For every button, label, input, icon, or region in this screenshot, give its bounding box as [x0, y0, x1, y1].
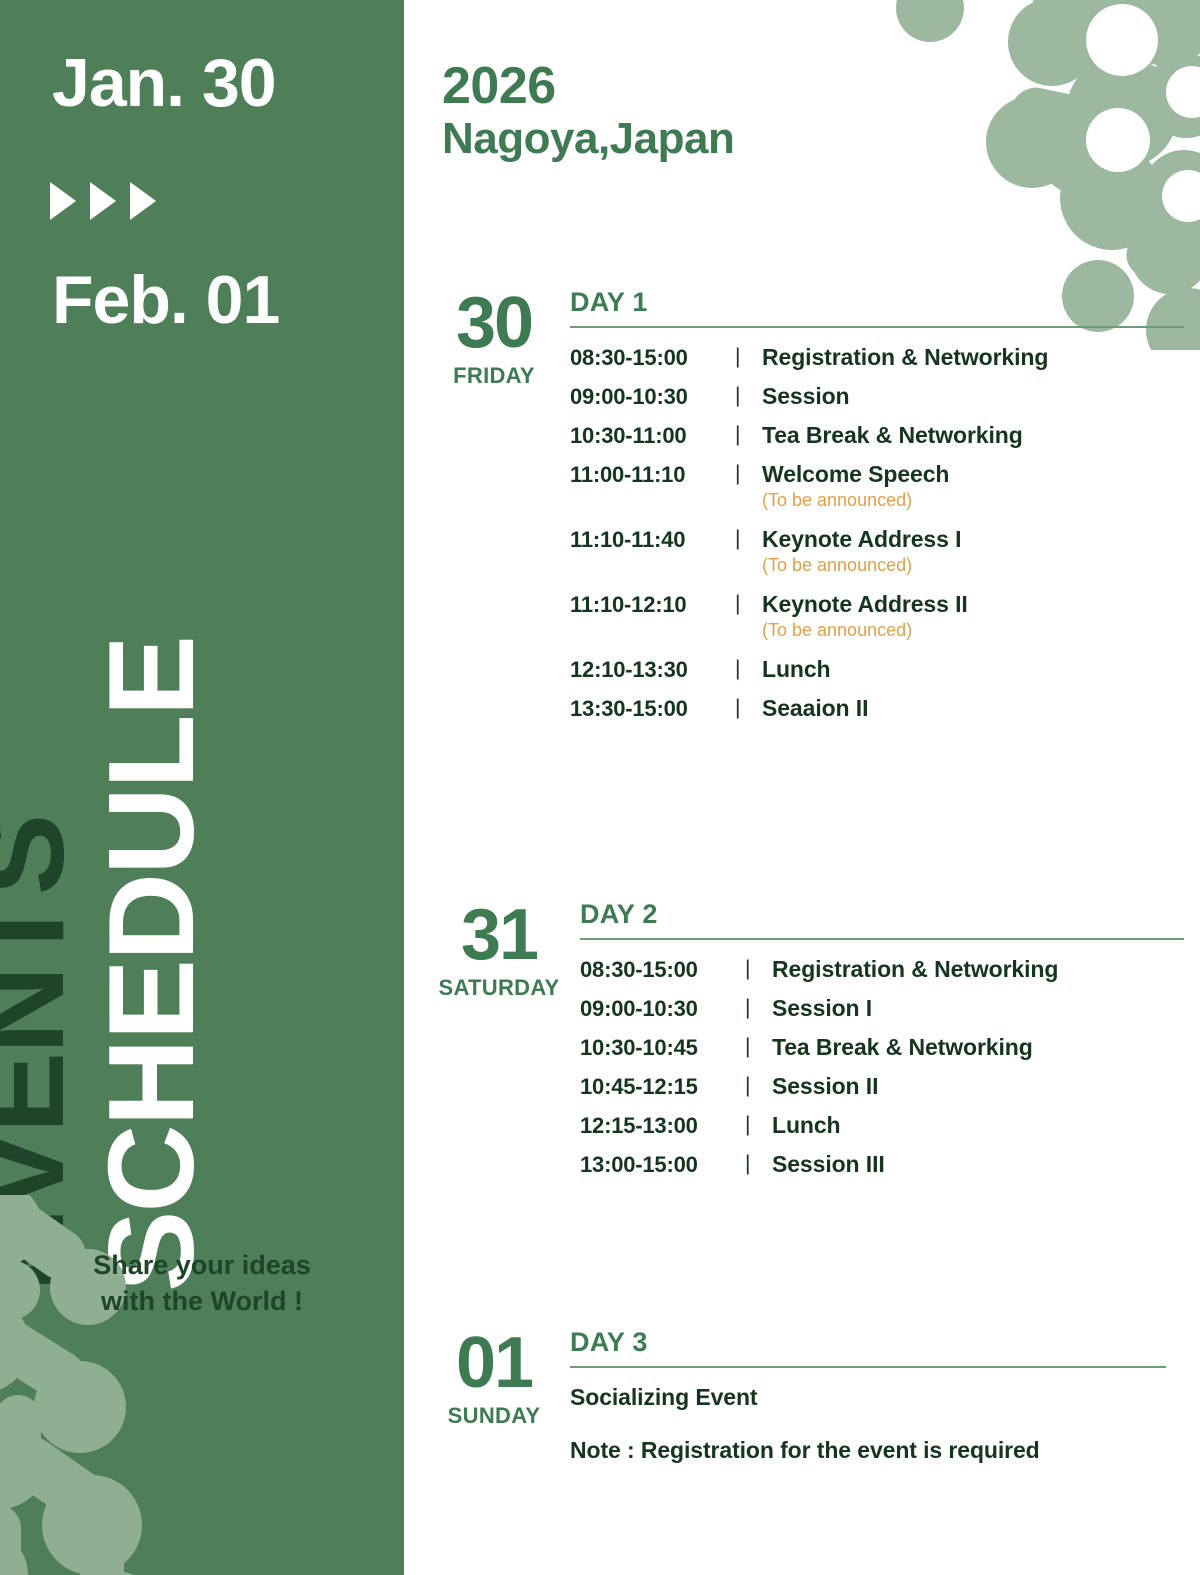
schedule-row: 10:45-12:15 | Session II: [580, 1073, 1184, 1100]
slot-separator: |: [740, 1073, 772, 1098]
slot-time: 09:00-10:30: [580, 995, 740, 1022]
schedule-row: 09:00-10:30 | Session I: [580, 995, 1184, 1022]
day-number: 30: [424, 290, 564, 356]
slot-separator: |: [730, 344, 762, 369]
slot-separator: |: [740, 956, 772, 981]
schedule-row: 13:00-15:00 | Session III: [580, 1151, 1184, 1178]
day-number: 01: [424, 1330, 564, 1396]
schedule-poster: Jan. 30 Feb. 01 EVENTS SCHEDULE Share yo…: [0, 0, 1200, 1575]
slot-time: 10:30-10:45: [580, 1034, 740, 1061]
slot-main: Keynote Address II (To be announced): [762, 591, 1184, 642]
tagline: Share your ideas with the World !: [0, 1248, 404, 1319]
schedule-row: 08:30-15:00 | Registration & Networking: [570, 344, 1184, 371]
day-divider: [580, 938, 1184, 940]
event-end-date: Feb. 01: [52, 265, 279, 336]
slot-title: Lunch: [772, 1112, 1184, 1138]
slot-title: Welcome Speech: [762, 461, 1184, 487]
slot-main: Session III: [772, 1151, 1184, 1177]
slot-time: 08:30-15:00: [570, 344, 730, 371]
slot-main: Session II: [772, 1073, 1184, 1099]
slot-main: Tea Break & Networking: [772, 1034, 1184, 1060]
slot-title: Seaaion II: [762, 695, 1184, 721]
vertical-title-schedule: SCHEDULE: [90, 637, 212, 1292]
slot-time: 12:10-13:30: [570, 656, 730, 683]
slot-separator: |: [730, 461, 762, 486]
day-body-1: DAY 1 08:30-15:00 | Registration & Netwo…: [564, 288, 1184, 734]
day-divider: [570, 1366, 1166, 1368]
slot-title: Session I: [772, 995, 1184, 1021]
slot-title: Tea Break & Networking: [762, 422, 1184, 448]
event-location: Nagoya,Japan: [442, 114, 734, 163]
slot-separator: |: [730, 422, 762, 447]
slot-title: Session: [762, 383, 1184, 409]
day-weekday: SATURDAY: [424, 975, 574, 1001]
day-date-3: 01 SUNDAY: [424, 1328, 564, 1464]
schedule-row: 13:30-15:00 | Seaaion II: [570, 695, 1184, 722]
slot-separator: |: [730, 695, 762, 720]
slot-time: 13:00-15:00: [580, 1151, 740, 1178]
slot-time: 08:30-15:00: [580, 956, 740, 983]
slot-separator: |: [740, 995, 772, 1020]
event-start-date: Jan. 30: [52, 48, 276, 119]
slot-separator: |: [740, 1151, 772, 1176]
day-title: DAY 2: [580, 900, 1184, 930]
slot-separator: |: [730, 591, 762, 616]
day-body-3: DAY 3 Socializing Event Note : Registrat…: [564, 1328, 1184, 1464]
slot-time: 11:10-11:40: [570, 526, 730, 553]
tagline-line-1: Share your ideas: [0, 1248, 404, 1284]
slot-main: Registration & Networking: [772, 956, 1184, 982]
schedule-row: 12:10-13:30 | Lunch: [570, 656, 1184, 683]
slot-main: Registration & Networking: [762, 344, 1184, 370]
event-year: 2026: [442, 58, 734, 114]
slot-separator: |: [730, 656, 762, 681]
day-block-3: 01 SUNDAY DAY 3 Socializing Event Note :…: [424, 1328, 1184, 1464]
slot-main: Lunch: [762, 656, 1184, 682]
slot-title: Keynote Address II: [762, 591, 1184, 617]
schedule-row: 12:15-13:00 | Lunch: [580, 1112, 1184, 1139]
slot-main: Tea Break & Networking: [762, 422, 1184, 448]
slot-separator: |: [730, 383, 762, 408]
day3-event-name: Socializing Event: [570, 1384, 1184, 1411]
play-triangle-icon: [130, 182, 156, 220]
play-triangle-icon: [50, 182, 76, 220]
play-triangle-icon: [90, 182, 116, 220]
slot-title: Session II: [772, 1073, 1184, 1099]
slot-main: Keynote Address I (To be announced): [762, 526, 1184, 577]
schedule-row: 10:30-10:45 | Tea Break & Networking: [580, 1034, 1184, 1061]
vertical-title-events: EVENTS: [0, 816, 82, 1292]
day-title: DAY 1: [570, 288, 1184, 318]
slot-separator: |: [730, 526, 762, 551]
schedule-row: 11:10-11:40 | Keynote Address I (To be a…: [570, 526, 1184, 577]
slot-time: 09:00-10:30: [570, 383, 730, 410]
day-date-2: 31 SATURDAY: [424, 900, 574, 1190]
slot-title: Lunch: [762, 656, 1184, 682]
vertical-title-group: EVENTS SCHEDULE: [0, 470, 404, 1210]
slot-time: 10:45-12:15: [580, 1073, 740, 1100]
slot-separator: |: [740, 1034, 772, 1059]
slot-note: (To be announced): [762, 489, 1184, 512]
slot-main: Lunch: [772, 1112, 1184, 1138]
day-body-2: DAY 2 08:30-15:00 | Registration & Netwo…: [574, 900, 1184, 1190]
day-title: DAY 3: [570, 1328, 1184, 1358]
slot-title: Keynote Address I: [762, 526, 1184, 552]
slot-note: (To be announced): [762, 554, 1184, 577]
slot-main: Seaaion II: [762, 695, 1184, 721]
slot-main: Session I: [772, 995, 1184, 1021]
day-number: 31: [424, 902, 574, 968]
day-block-2: 31 SATURDAY DAY 2 08:30-15:00 | Registra…: [424, 900, 1184, 1190]
slot-main: Session: [762, 383, 1184, 409]
schedule-row: 10:30-11:00 | Tea Break & Networking: [570, 422, 1184, 449]
slot-main: Welcome Speech (To be announced): [762, 461, 1184, 512]
tagline-line-2: with the World !: [0, 1284, 404, 1320]
slot-time: 13:30-15:00: [570, 695, 730, 722]
day-weekday: SUNDAY: [424, 1403, 564, 1429]
sidebar-panel: Jan. 30 Feb. 01 EVENTS SCHEDULE Share yo…: [0, 0, 404, 1575]
slot-title: Tea Break & Networking: [772, 1034, 1184, 1060]
arrow-separator-group: [50, 182, 156, 220]
slot-title: Registration & Networking: [772, 956, 1184, 982]
slot-time: 11:10-12:10: [570, 591, 730, 618]
slot-separator: |: [740, 1112, 772, 1137]
schedule-row: 08:30-15:00 | Registration & Networking: [580, 956, 1184, 983]
slot-time: 10:30-11:00: [570, 422, 730, 449]
day-block-1: 30 FRIDAY DAY 1 08:30-15:00 | Registrati…: [424, 288, 1184, 734]
schedule-row: 09:00-10:30 | Session: [570, 383, 1184, 410]
slot-time: 11:00-11:10: [570, 461, 730, 488]
schedule-row: 11:10-12:10 | Keynote Address II (To be …: [570, 591, 1184, 642]
day-weekday: FRIDAY: [424, 363, 564, 389]
slot-note: (To be announced): [762, 619, 1184, 642]
day3-note: Note : Registration for the event is req…: [570, 1437, 1184, 1464]
slot-title: Registration & Networking: [762, 344, 1184, 370]
header-block: 2026 Nagoya,Japan: [442, 58, 734, 163]
slot-time: 12:15-13:00: [580, 1112, 740, 1139]
content-panel: 2026 Nagoya,Japan 30 FRIDAY DAY 1 08:30-…: [404, 0, 1200, 1575]
day-date-1: 30 FRIDAY: [424, 288, 564, 734]
slot-title: Session III: [772, 1151, 1184, 1177]
schedule-row: 11:00-11:10 | Welcome Speech (To be anno…: [570, 461, 1184, 512]
day-divider: [570, 326, 1184, 328]
